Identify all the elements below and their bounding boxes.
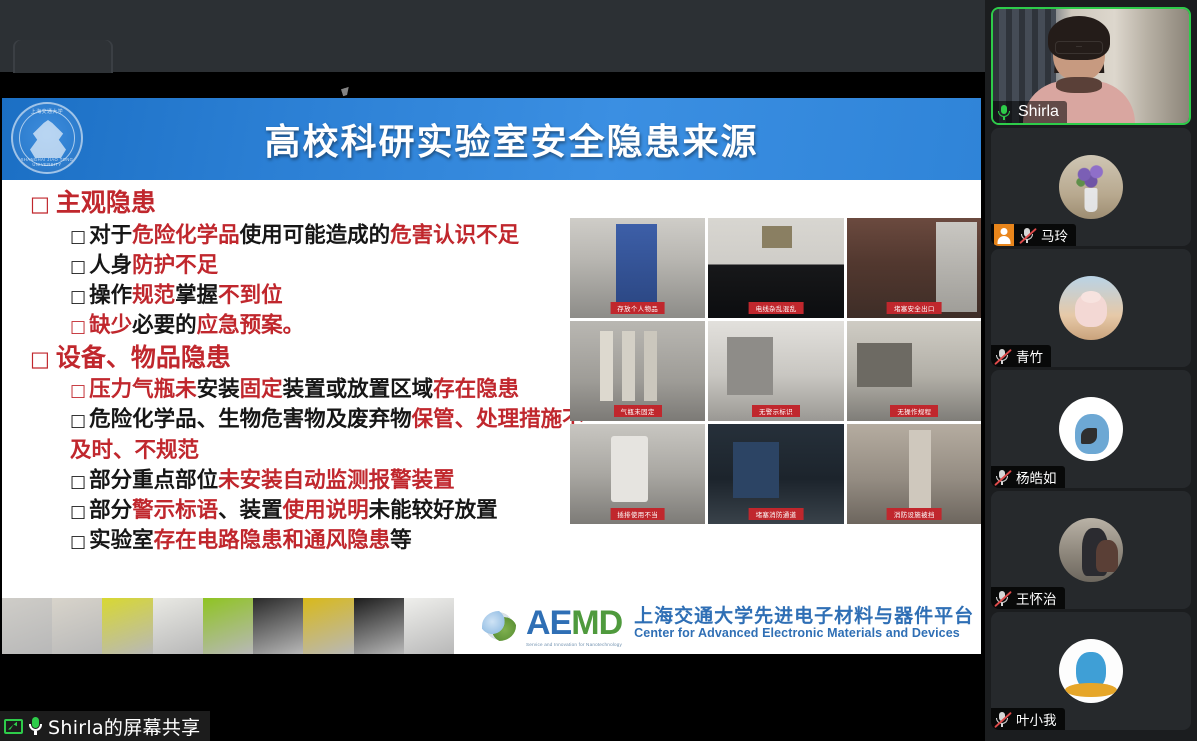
aemd-mark-icon bbox=[482, 611, 516, 641]
bullet-text-segment: 操作 bbox=[89, 283, 132, 308]
bullet-square-icon: □ bbox=[30, 192, 50, 216]
bullet-text-segment: 未安装自动监测报警装置 bbox=[218, 468, 455, 493]
bullet-text-segment: 防护不足 bbox=[132, 253, 218, 278]
bullet-text-segment: 部分 bbox=[89, 498, 132, 523]
host-person-icon bbox=[994, 224, 1014, 246]
participant-name: 叶小我 bbox=[1016, 709, 1057, 729]
evidence-photo: 插排使用不当 bbox=[570, 424, 705, 524]
slide-body: □主观隐患□对于危险化学品使用可能造成的危害认识不足□人身防护不足□操作规范掌握… bbox=[2, 180, 981, 598]
filmstrip-photo bbox=[153, 598, 203, 654]
bullet-text-segment: 掌握 bbox=[175, 283, 218, 308]
evidence-photo-caption: 堵塞安全出口 bbox=[887, 302, 942, 314]
bullet-text-segment: 部分重点部位 bbox=[89, 468, 218, 493]
seal-bottom-text: SHANGHAI JIAO TONG UNIVERSITY bbox=[13, 157, 81, 167]
bullet-text-segment: 不到位 bbox=[218, 283, 283, 308]
bullet-text-segment: 实验室 bbox=[89, 528, 154, 553]
participant-name: 马玲 bbox=[1041, 225, 1068, 245]
slide-bullet-item: □压力气瓶未安装固定装置或放置区域存在隐患 bbox=[70, 375, 575, 405]
bullet-text-segment: 规范 bbox=[132, 283, 175, 308]
bullet-text-segment: 存在电路隐患和通风隐患 bbox=[154, 528, 391, 553]
participant-name-bar: 马玲 bbox=[991, 224, 1076, 246]
aemd-wordmark: AEMD bbox=[526, 606, 622, 640]
microphone-on-icon bbox=[996, 104, 1013, 121]
meeting-toolbar-collapsed[interactable] bbox=[13, 40, 113, 73]
bullet-text-segment: 人身 bbox=[89, 253, 132, 278]
filmstrip-photo bbox=[354, 598, 404, 654]
evidence-photo-caption: 插排使用不当 bbox=[610, 508, 665, 520]
filmstrip-photo bbox=[52, 598, 102, 654]
participant-name-bar: 青竹 bbox=[991, 345, 1051, 367]
slide-bullet-item: □对于危险化学品使用可能造成的危害认识不足 bbox=[70, 221, 575, 251]
mouse-cursor-icon bbox=[341, 87, 351, 96]
evidence-photo-grid: 存放个人物品电线杂乱混乱堵塞安全出口气瓶未固定无警示标识无操作规程插排使用不当堵… bbox=[570, 218, 981, 524]
evidence-photo-caption: 无警示标识 bbox=[752, 405, 800, 417]
slide-section-heading: □主观隐患 bbox=[30, 186, 575, 221]
microphone-muted-icon bbox=[994, 348, 1011, 365]
slide-bullet-item: □操作规范掌握不到位 bbox=[70, 281, 575, 311]
university-seal-icon: 上海交通大学 SHANGHAI JIAO TONG UNIVERSITY bbox=[11, 102, 83, 174]
bullet-text-segment: 必要的 bbox=[132, 313, 197, 338]
participant-video-strip[interactable]: Shirla马玲青竹杨皓如王怀治叶小我 bbox=[985, 0, 1197, 741]
slide-section-heading: □设备、物品隐患 bbox=[30, 341, 575, 376]
footer-photo-filmstrip bbox=[2, 598, 454, 654]
bullet-square-icon: □ bbox=[30, 347, 50, 371]
participant-name: 王怀治 bbox=[1016, 588, 1057, 608]
section-heading-text: 设备、物品隐患 bbox=[56, 343, 231, 372]
slide-bullet-item: □实验室存在电路隐患和通风隐患等 bbox=[70, 526, 575, 556]
bullet-square-icon: □ bbox=[70, 381, 86, 401]
screen-share-indicator: Shirla的屏幕共享 bbox=[0, 711, 210, 741]
avatar bbox=[1059, 397, 1123, 461]
bullet-square-icon: □ bbox=[70, 287, 86, 307]
slide-bullet-item: □缺少必要的应急预案。 bbox=[70, 311, 575, 341]
aemd-letter: A bbox=[526, 604, 550, 642]
aemd-letter: E bbox=[550, 604, 572, 642]
bullet-text-segment: 危害认识不足 bbox=[390, 223, 519, 248]
microphone-muted-icon bbox=[994, 590, 1011, 607]
participant-name: Shirla bbox=[1018, 103, 1059, 121]
filmstrip-photo bbox=[203, 598, 253, 654]
evidence-photo-caption: 电线杂乱混乱 bbox=[749, 302, 804, 314]
aemd-logo-block: AEMD Service and Innovation for Nanotech… bbox=[454, 598, 981, 654]
slide-bullet-list: □主观隐患□对于危险化学品使用可能造成的危害认识不足□人身防护不足□操作规范掌握… bbox=[30, 186, 575, 556]
slide-bullet-item: □部分重点部位未安装自动监测报警装置 bbox=[70, 466, 575, 496]
bullet-text-segment: 使用说明 bbox=[283, 498, 369, 523]
screen-share-icon bbox=[4, 719, 23, 734]
avatar bbox=[1059, 155, 1123, 219]
bullet-square-icon: □ bbox=[70, 411, 86, 431]
bullet-text-segment: 警示标语 bbox=[132, 498, 218, 523]
evidence-photo: 堵塞安全出口 bbox=[847, 218, 981, 318]
evidence-photo-caption: 消防设施被挡 bbox=[887, 508, 942, 520]
evidence-photo-caption: 存放个人物品 bbox=[610, 302, 665, 314]
filmstrip-photo bbox=[102, 598, 152, 654]
evidence-photo-caption: 无操作规程 bbox=[890, 405, 938, 417]
bullet-text-segment: 危险化学品、生物危害物及废弃物 bbox=[89, 407, 412, 432]
evidence-photo-caption: 气瓶未固定 bbox=[614, 405, 662, 417]
filmstrip-photo bbox=[303, 598, 353, 654]
microphone-muted-icon bbox=[1019, 227, 1036, 244]
slide-header: 上海交通大学 SHANGHAI JIAO TONG UNIVERSITY 高校科… bbox=[2, 98, 981, 180]
bullet-text-segment: 装置或放置区域 bbox=[283, 377, 434, 402]
evidence-photo: 气瓶未固定 bbox=[570, 321, 705, 421]
evidence-photo: 无警示标识 bbox=[708, 321, 843, 421]
evidence-photo: 无操作规程 bbox=[847, 321, 981, 421]
section-heading-text: 主观隐患 bbox=[56, 188, 156, 217]
bullet-text-segment: 未能较好放置 bbox=[369, 498, 498, 523]
bullet-text-segment: 等 bbox=[390, 528, 412, 553]
bullet-text-segment: 、装置 bbox=[218, 498, 283, 523]
filmstrip-photo bbox=[253, 598, 303, 654]
bullet-square-icon: □ bbox=[70, 257, 86, 277]
evidence-photo-caption: 堵塞消防通道 bbox=[749, 508, 804, 520]
avatar bbox=[1059, 518, 1123, 582]
filmstrip-photo bbox=[2, 598, 52, 654]
bullet-text-segment: 存在隐患 bbox=[433, 377, 519, 402]
bullet-text-segment: 对于 bbox=[89, 223, 132, 248]
evidence-photo: 存放个人物品 bbox=[570, 218, 705, 318]
evidence-photo: 消防设施被挡 bbox=[847, 424, 981, 524]
slide-bullet-item: □危险化学品、生物危害物及废弃物保管、处理措施不及时、不规范 bbox=[70, 405, 590, 465]
participant-tile-2[interactable]: 马玲 bbox=[991, 128, 1191, 246]
slide-footer: AEMD Service and Innovation for Nanotech… bbox=[2, 598, 981, 654]
slide-bullet-item: □人身防护不足 bbox=[70, 251, 575, 281]
evidence-photo: 堵塞消防通道 bbox=[708, 424, 843, 524]
bullet-text-segment: 安装 bbox=[197, 377, 240, 402]
bullet-square-icon: □ bbox=[70, 532, 86, 552]
participant-name-bar: 杨皓如 bbox=[991, 466, 1065, 488]
bullet-text-segment: 缺少 bbox=[89, 313, 132, 338]
slide-bullet-item: □部分警示标语、装置使用说明未能较好放置 bbox=[70, 496, 575, 526]
aemd-letter: M bbox=[571, 604, 598, 642]
microphone-muted-icon bbox=[994, 469, 1011, 486]
participant-tile-3[interactable]: 青竹 bbox=[991, 249, 1191, 367]
filmstrip-photo bbox=[404, 598, 454, 654]
aemd-mark-caption: Service and Innovation for Nanotechnolog… bbox=[526, 642, 622, 647]
bullet-text-segment: 使用可能造成的 bbox=[240, 223, 391, 248]
shared-desktop-background bbox=[0, 0, 985, 72]
bullet-text-segment: 应急预案。 bbox=[197, 313, 305, 338]
microphone-muted-icon bbox=[994, 711, 1011, 728]
aemd-org-cn: 上海交通大学先进电子材料与器件平台 bbox=[634, 606, 974, 628]
microphone-on-icon bbox=[28, 716, 43, 736]
participant-name: 青竹 bbox=[1016, 346, 1043, 366]
participant-tile-1[interactable]: Shirla bbox=[991, 7, 1191, 125]
bullet-square-icon: □ bbox=[70, 317, 86, 337]
zoom-meeting-window: 上海交通大学 SHANGHAI JIAO TONG UNIVERSITY 高校科… bbox=[0, 0, 1197, 741]
bullet-square-icon: □ bbox=[70, 502, 86, 522]
participant-tile-6[interactable]: 叶小我 bbox=[991, 612, 1191, 730]
participant-name-bar: 叶小我 bbox=[991, 708, 1065, 730]
bullet-square-icon: □ bbox=[70, 227, 86, 247]
bullet-text-segment: 压力气瓶未 bbox=[89, 377, 197, 402]
shared-screen-area: 上海交通大学 SHANGHAI JIAO TONG UNIVERSITY 高校科… bbox=[0, 0, 985, 741]
slide-title: 高校科研实验室安全隐患来源 bbox=[2, 113, 981, 165]
participant-name: 杨皓如 bbox=[1016, 467, 1057, 487]
aemd-letter: D bbox=[599, 604, 623, 642]
bullet-square-icon: □ bbox=[70, 472, 86, 492]
participant-name-bar: 王怀治 bbox=[991, 587, 1065, 609]
evidence-photo: 电线杂乱混乱 bbox=[708, 218, 843, 318]
aemd-org-en: Center for Advanced Electronic Materials… bbox=[634, 627, 974, 641]
screen-share-label: Shirla的屏幕共享 bbox=[48, 713, 200, 740]
participant-tile-4[interactable]: 杨皓如 bbox=[991, 370, 1191, 488]
seal-top-text: 上海交通大学 bbox=[13, 108, 81, 115]
avatar bbox=[1059, 276, 1123, 340]
presentation-slide: 上海交通大学 SHANGHAI JIAO TONG UNIVERSITY 高校科… bbox=[2, 98, 981, 654]
bullet-text-segment: 危险化学品 bbox=[132, 223, 240, 248]
avatar bbox=[1059, 639, 1123, 703]
participant-name-bar: Shirla bbox=[993, 101, 1067, 123]
participant-tile-5[interactable]: 王怀治 bbox=[991, 491, 1191, 609]
bullet-text-segment: 固定 bbox=[240, 377, 283, 402]
